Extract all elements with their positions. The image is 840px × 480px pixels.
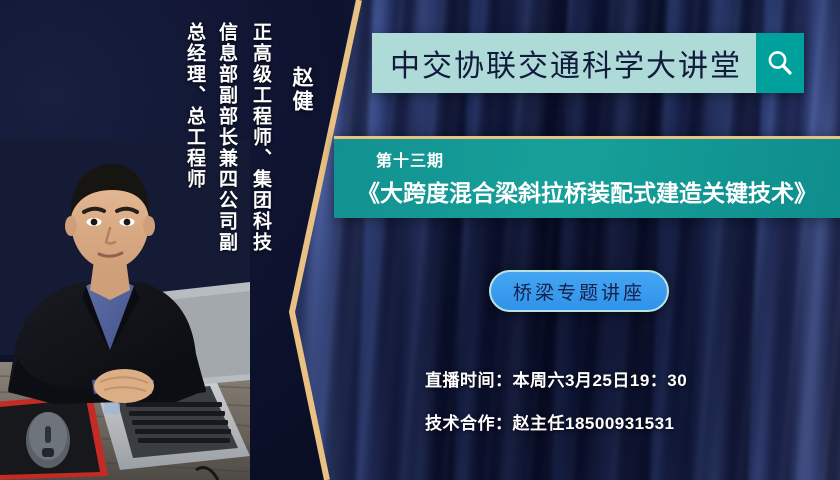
header-title-bar: 中交协联交通科学大讲堂 [372,33,804,93]
speaker-name: 赵健 [286,66,316,114]
search-button[interactable] [756,33,804,93]
speaker-title-line-3: 总经理、总工程师 [181,22,208,190]
issue-number: 第十三期 [376,147,840,171]
speaker-title-line-2: 信息部副部长兼四公司副 [213,22,240,253]
page-title: 中交协联交通科学大讲堂 [372,33,756,93]
topic-pill-button[interactable]: 桥梁专题讲座 [489,270,669,312]
webinar-poster: 总经理、总工程师 信息部副部长兼四公司副 正高级工程师、集团科技 赵健 中交协联… [0,0,840,480]
live-time-text: 直播时间：本周六3月25日19：30 [425,366,687,391]
speaker-title-line-1: 正高级工程师、集团科技 [247,22,274,253]
contact-text: 技术合作：赵主任18500931531 [425,409,675,434]
lecture-banner: 第十三期 《大跨度混合梁斜拉桥装配式建造关键技术》 [334,136,840,218]
lecture-title: 《大跨度混合梁斜拉桥装配式建造关键技术》 [334,174,840,208]
search-icon [765,48,795,78]
